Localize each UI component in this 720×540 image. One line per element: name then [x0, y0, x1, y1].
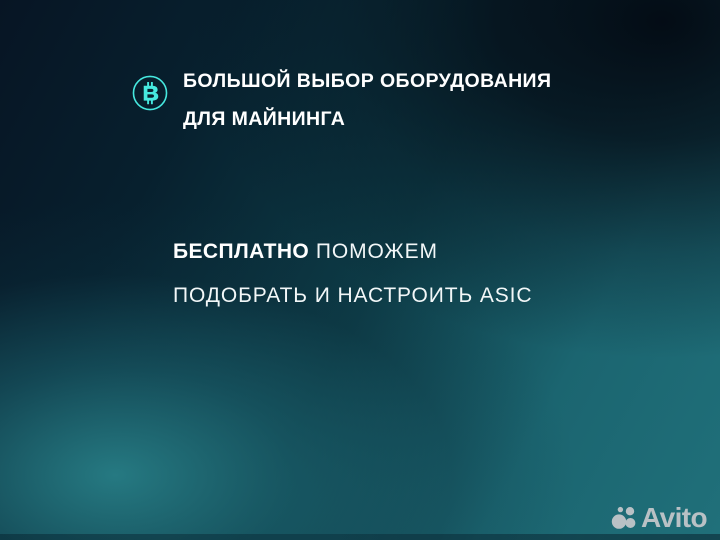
- headline-block: БОЛЬШОЙ ВЫБОР ОБОРУДОВАНИЯ ДЛЯ МАЙНИНГА: [131, 62, 551, 138]
- subheadline-line-2: ПОДОБРАТЬ И НАСТРОИТЬ ASIC: [173, 274, 532, 318]
- headline-line-1: БОЛЬШОЙ ВЫБОР ОБОРУДОВАНИЯ: [183, 70, 551, 92]
- banner-content: БОЛЬШОЙ ВЫБОР ОБОРУДОВАНИЯ ДЛЯ МАЙНИНГА …: [0, 0, 720, 540]
- bitcoin-icon: [131, 74, 169, 112]
- subheadline-emphasis: БЕСПЛАТНО: [173, 240, 309, 263]
- promo-banner: БОЛЬШОЙ ВЫБОР ОБОРУДОВАНИЯ ДЛЯ МАЙНИНГА …: [0, 0, 720, 540]
- page-title: БОЛЬШОЙ ВЫБОР ОБОРУДОВАНИЯ ДЛЯ МАЙНИНГА: [183, 62, 551, 138]
- avito-wordmark: Avito: [641, 504, 707, 532]
- subheadline-block: БЕСПЛАТНО ПОМОЖЕМ ПОДОБРАТЬ И НАСТРОИТЬ …: [173, 230, 532, 318]
- subheadline-line-1: БЕСПЛАТНО ПОМОЖЕМ: [173, 230, 532, 274]
- headline-line-2: ДЛЯ МАЙНИНГА: [183, 108, 345, 130]
- avito-dots-icon: [610, 504, 638, 532]
- subheadline-line-1-rest: ПОМОЖЕМ: [309, 240, 438, 263]
- avito-logo: Avito: [610, 504, 707, 532]
